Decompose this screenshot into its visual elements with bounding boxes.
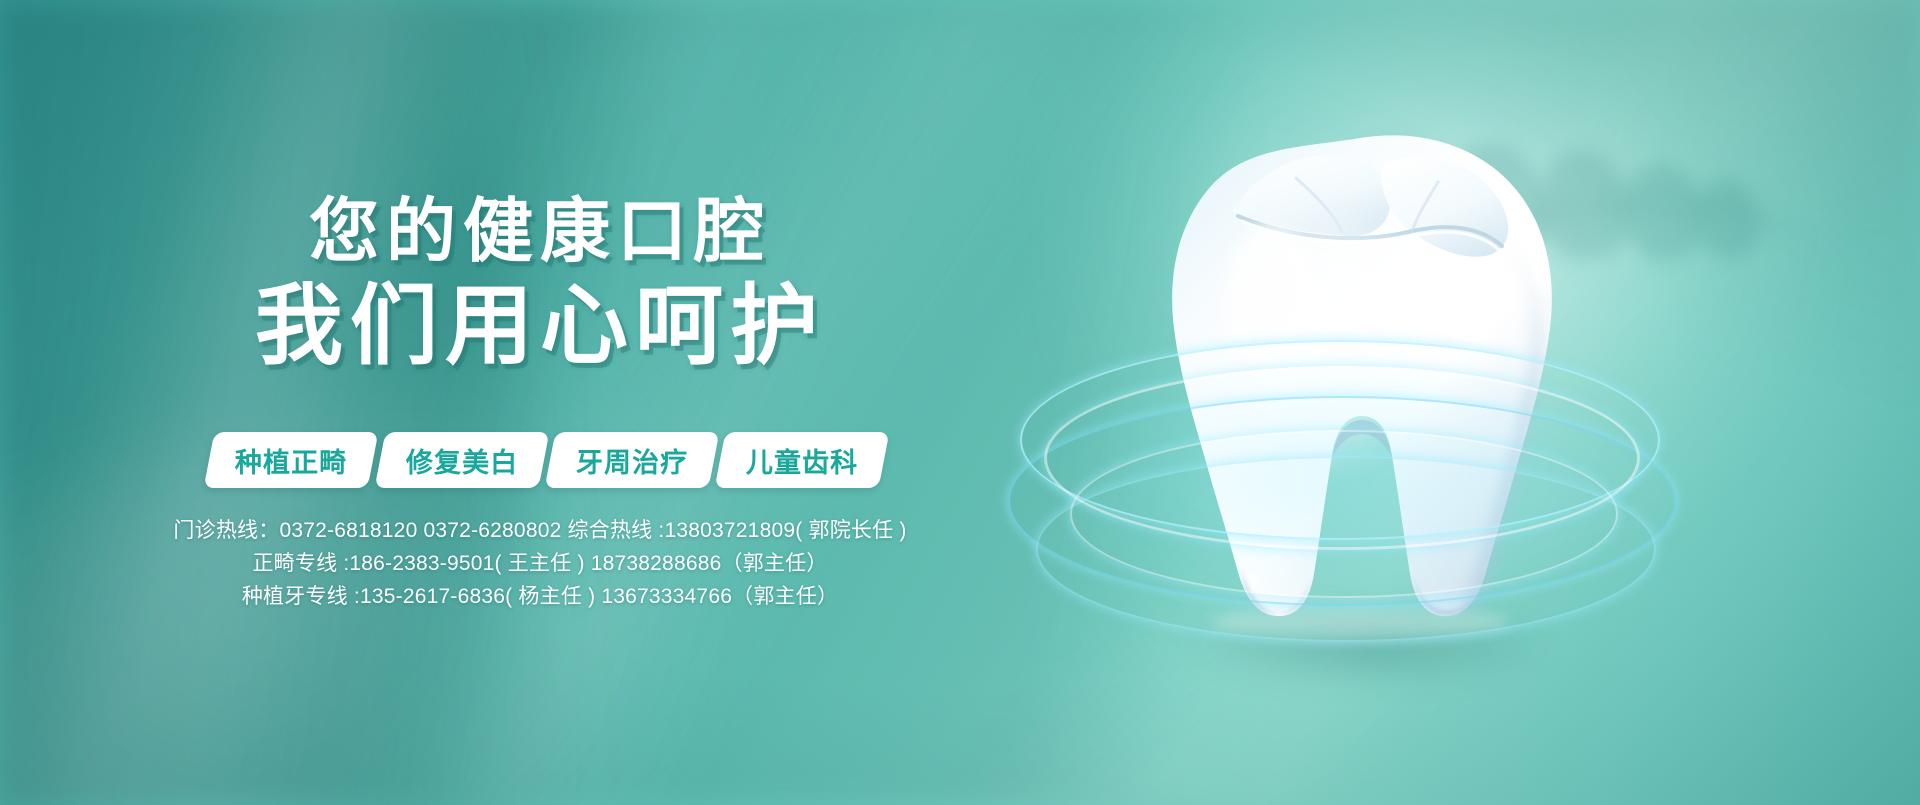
contact-line-orthodontics-hotline: 正畸专线 :186-2383-9501( 王主任 ) 18738288686（郭… <box>0 553 1080 574</box>
service-tag-label: 牙周治疗 <box>576 441 688 480</box>
service-tag-label: 修复美白 <box>406 441 518 480</box>
service-tag-restoration-whitening[interactable]: 修复美白 <box>374 432 549 488</box>
banner-content: 您的健康口腔 我们用心呵护 种植正畸 修复美白 牙周治疗 儿童齿科 门诊热线：0… <box>0 0 1080 805</box>
service-tag-row: 种植正畸 修复美白 牙周治疗 儿童齿科 <box>0 432 1080 488</box>
headline-line-1: 您的健康口腔 <box>0 196 1080 266</box>
service-tag-implant-orthodontics[interactable]: 种植正畸 <box>204 432 379 488</box>
tooth-illustration <box>1120 120 1600 640</box>
contact-line-clinic-hotline: 门诊热线：0372-6818120 0372-6280802 综合热线 :138… <box>0 520 1080 541</box>
headline-line-2: 我们用心呵护 <box>0 282 1080 370</box>
service-tag-label: 种植正畸 <box>235 441 347 480</box>
service-tag-pediatric-dentistry[interactable]: 儿童齿科 <box>715 432 890 488</box>
headline-block: 您的健康口腔 我们用心呵护 <box>0 196 1080 370</box>
contact-line-implant-hotline: 种植牙专线 :135-2617-6836( 杨主任 ) 13673334766（… <box>0 586 1080 607</box>
service-tag-periodontal-treatment[interactable]: 牙周治疗 <box>545 432 720 488</box>
contact-block: 门诊热线：0372-6818120 0372-6280802 综合热线 :138… <box>0 520 1080 607</box>
molar-tooth-icon <box>1120 120 1600 640</box>
service-tag-label: 儿童齿科 <box>746 441 858 480</box>
dental-clinic-banner: 您的健康口腔 我们用心呵护 种植正畸 修复美白 牙周治疗 儿童齿科 门诊热线：0… <box>0 0 1920 805</box>
